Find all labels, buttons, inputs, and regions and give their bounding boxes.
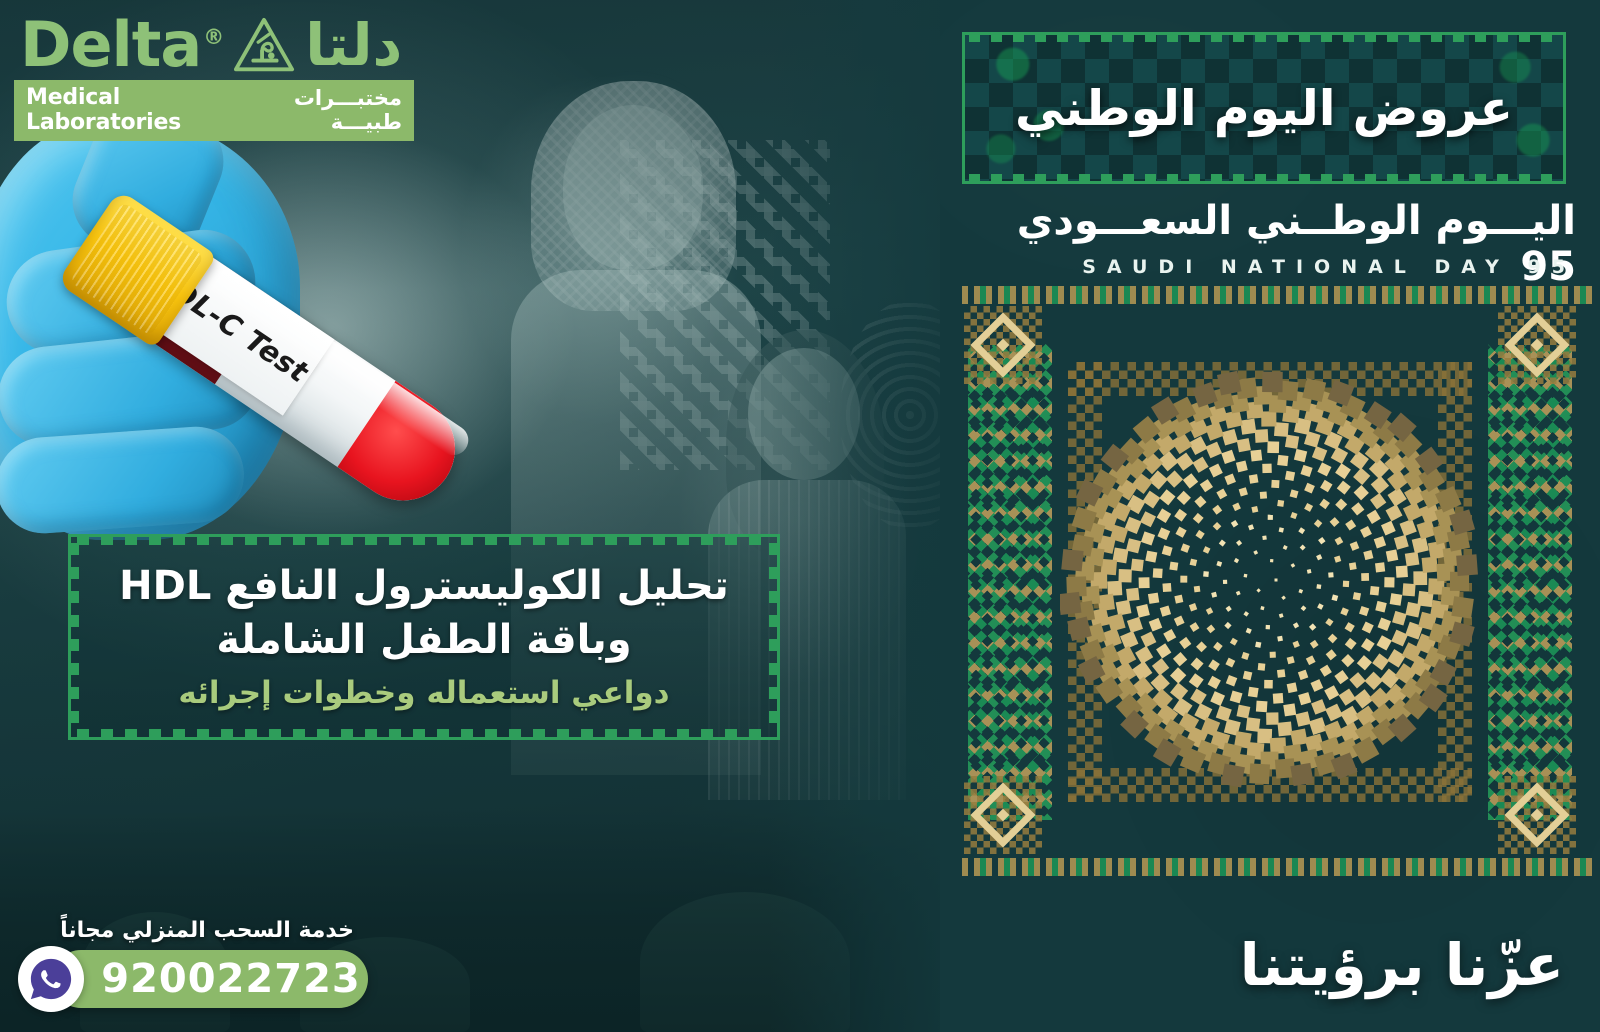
logo-tagline-bar: Medical Laboratories مختبـــرات طبيـــة [14, 80, 414, 141]
gold-diamond-tile-bottom-left [964, 776, 1042, 854]
national-day-panel: عروض اليوم الوطني اليـــوم الوطــني السع… [940, 0, 1600, 1032]
brand-logo[interactable]: Delta® دلتا Medical Laboratories مختبـــ… [14, 14, 414, 141]
gold-diamond-tile-top-left [964, 306, 1042, 384]
dotted-band-top [962, 286, 1598, 304]
offer-line-2: وباقة الطفل الشاملة [105, 613, 743, 667]
offer-headline-content: تحليل الكوليسترول النافع HDL وباقة الطفل… [71, 537, 777, 713]
sadu-lattice-right [1488, 344, 1572, 820]
gold-diamond-tile-top-right [1498, 306, 1576, 384]
poster-canvas: HDL-C Test Delta® دلتا Medical La [0, 0, 1600, 1032]
dotted-band-bottom [962, 858, 1598, 876]
offer-headline-box: تحليل الكوليسترول النافع HDL وباقة الطفل… [68, 534, 780, 740]
tube-blood-tip [337, 381, 475, 521]
ornament-region [950, 300, 1590, 860]
national-day-slogan: عزّنا برؤيتنا [964, 934, 1564, 998]
offer-line-1: تحليل الكوليسترول النافع HDL [105, 559, 743, 613]
logo-name-en: Delta® [20, 14, 223, 76]
national-day-offers-banner: عروض اليوم الوطني [962, 32, 1566, 184]
phone-number[interactable]: 920022723 [59, 959, 361, 999]
national-day-subtitle-en: SAUDI NATIONAL DAY 95 [972, 256, 1576, 278]
whatsapp-icon[interactable] [18, 946, 84, 1012]
spiral-rosette-ornament [1060, 370, 1480, 790]
phone-pill[interactable]: 920022723 [52, 950, 368, 1008]
contact-block: خدمة السحب المنزلي مجاناً 920022723 [18, 918, 368, 1008]
logo-name-ar: دلتا [305, 16, 402, 74]
microscope-in-triangle-icon [233, 16, 295, 74]
banner-title: عروض اليوم الوطني [965, 35, 1563, 181]
logo-wordmark-row: Delta® دلتا [14, 14, 414, 76]
gold-diamond-tile-bottom-right [1498, 776, 1576, 854]
home-service-caption: خدمة السحب المنزلي مجاناً [18, 918, 368, 943]
glove-finger [0, 423, 247, 536]
logo-tagline-ar: مختبـــرات طبيـــة [250, 86, 402, 134]
sadu-lattice-left [968, 344, 1052, 820]
registered-trademark-icon: ® [203, 25, 223, 49]
offer-subline: دواعي استعماله وخطوات إجرائه [105, 673, 743, 713]
logo-tagline-en: Medical Laboratories [26, 85, 236, 135]
hero-test-tube-artwork: HDL-C Test [0, 120, 610, 550]
